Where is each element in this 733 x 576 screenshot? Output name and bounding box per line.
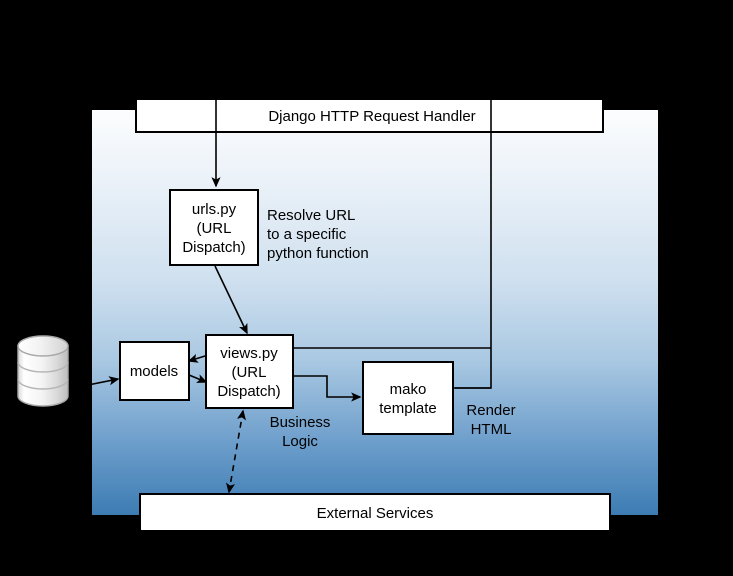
node-external-services[interactable]: External Services [140, 494, 610, 531]
resolve-note-line2: to a specific [267, 226, 347, 243]
urls-label-line3: Dispatch) [182, 239, 245, 256]
models-label: models [130, 363, 178, 380]
render-note-line1: Render [466, 402, 515, 419]
diagram-canvas: Django HTTP Request Handler urls.py (URL… [0, 0, 733, 576]
business-note-line1: Business [270, 414, 331, 431]
resolve-note-line3: python function [267, 245, 369, 262]
gradient-panel [92, 110, 658, 515]
business-note-line2: Logic [282, 433, 318, 450]
database-cylinder-icon [18, 336, 68, 406]
node-mako-template[interactable]: mako template [363, 362, 453, 434]
external-label: External Services [317, 505, 434, 522]
mako-box-rect [363, 362, 453, 434]
mako-label-line1: mako [390, 381, 427, 398]
node-views-py[interactable]: views.py (URL Dispatch) [206, 335, 293, 408]
django-flow-diagram: Django HTTP Request Handler urls.py (URL… [0, 0, 733, 576]
cylinder-top [18, 336, 68, 356]
node-models[interactable]: models [120, 342, 189, 400]
render-note-line2: HTML [471, 421, 512, 438]
handler-label: Django HTTP Request Handler [268, 108, 475, 125]
node-django-http-request-handler[interactable]: Django HTTP Request Handler [136, 99, 603, 132]
urls-label-line2: (URL [196, 220, 231, 237]
node-urls-py[interactable]: urls.py (URL Dispatch) [170, 190, 258, 265]
views-label-line2: (URL [231, 364, 266, 381]
views-label-line3: Dispatch) [217, 383, 280, 400]
views-label-line1: views.py [220, 345, 278, 362]
mako-label-line2: template [379, 400, 437, 417]
urls-label-line1: urls.py [192, 201, 237, 218]
resolve-note-line1: Resolve URL [267, 207, 355, 224]
